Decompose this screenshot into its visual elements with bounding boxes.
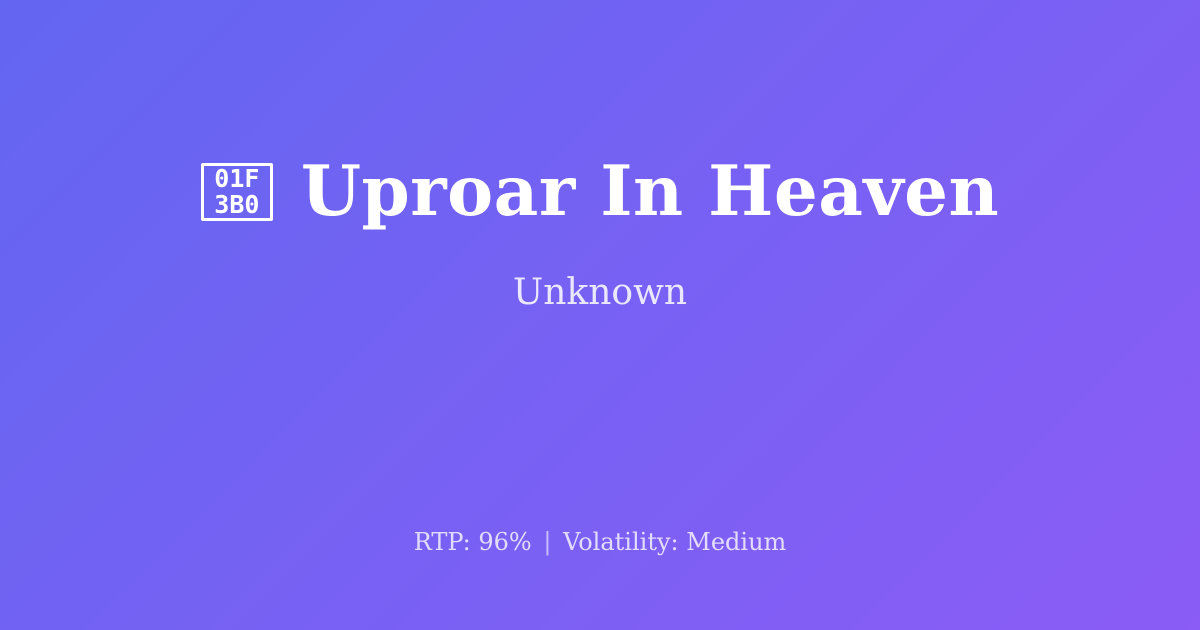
game-title: Uproar In Heaven: [301, 156, 999, 228]
meta-separator: |: [539, 528, 555, 556]
slot-machine-icon: 01F 3B0: [201, 163, 273, 221]
hero-section: 01F 3B0 Uproar In Heaven Unknown: [0, 0, 1200, 470]
rtp-value: 96%: [478, 528, 531, 556]
volatility-value: Medium: [686, 528, 786, 556]
title-row: 01F 3B0 Uproar In Heaven: [201, 156, 999, 228]
slot-machine-icon-codepoint-line-2: 3B0: [214, 192, 259, 218]
volatility-label: Volatility:: [563, 528, 679, 556]
game-meta-footer: RTP: 96% | Volatility: Medium: [0, 527, 1200, 558]
rtp-label: RTP:: [414, 528, 471, 556]
game-og-card: 01F 3B0 Uproar In Heaven Unknown RTP: 96…: [0, 0, 1200, 630]
slot-machine-icon-codepoint-line-1: 01F: [214, 166, 259, 192]
game-provider: Unknown: [513, 271, 687, 314]
